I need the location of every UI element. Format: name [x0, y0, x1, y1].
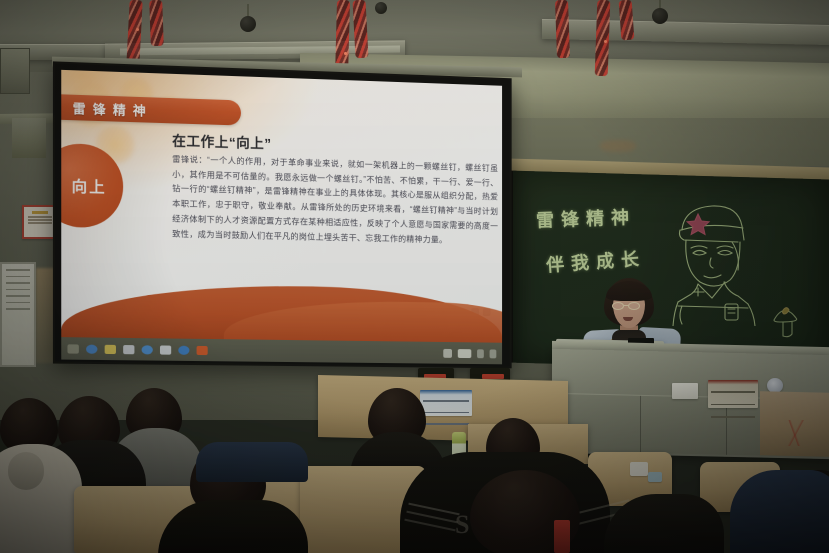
taskbar-tray[interactable] — [443, 348, 496, 357]
podium-service-sticker — [708, 380, 758, 408]
certificate-line — [28, 222, 52, 224]
store-icon[interactable] — [160, 345, 171, 354]
student-body-navy-jacket — [730, 470, 829, 553]
app-icon[interactable] — [197, 345, 208, 354]
notice-line — [6, 302, 30, 304]
red-tinsel-garland-4 — [595, 0, 611, 76]
slide-heading: 在工作上“向上” — [172, 129, 271, 152]
chair-sticker-2 — [648, 472, 662, 482]
podium-asset-tag-sticker — [672, 383, 698, 399]
explorer-icon[interactable] — [123, 345, 134, 354]
wall-utility-box — [0, 48, 30, 94]
notice-line — [6, 282, 30, 284]
wall-above-blackboard — [508, 118, 829, 166]
notice-line — [6, 289, 30, 291]
ceiling-speaker-mid — [375, 2, 387, 14]
ceiling-speaker-right — [652, 8, 668, 24]
folder-icon[interactable] — [105, 344, 116, 353]
red-tinsel-garland-3 — [555, 0, 570, 58]
wall-utility-box-lower — [12, 118, 46, 158]
wall-smudge — [600, 140, 636, 152]
slide-badge-label: 向上 — [61, 174, 106, 197]
desk-service-label — [420, 390, 472, 416]
notice-line — [6, 269, 30, 271]
notice-line — [6, 295, 30, 297]
glasses-lens-right-icon — [628, 302, 640, 310]
hoodie-hood — [8, 452, 44, 490]
mushroom-doodle — [770, 300, 816, 340]
classroom-scene: 雷锋精神 伴我成长 — [0, 0, 829, 553]
ceiling-speaker-left — [240, 16, 256, 32]
tinsel-sparkle-1 — [136, 28, 139, 31]
certificate-line — [28, 216, 52, 218]
presentation-slide: 雷锋精神 向上 在工作上“向上” 雷锋说：“一个人的作用，对于革命事业来说，就如… — [61, 70, 502, 343]
notice-line — [6, 276, 30, 278]
glasses-bridge — [624, 305, 629, 306]
blackboard-text-line1: 雷锋精神 — [536, 203, 637, 232]
certificate-line — [28, 219, 52, 221]
wall-red-marking — [778, 420, 812, 446]
jacket-logo-text: S — [455, 510, 469, 540]
whiteboard-notice — [0, 262, 36, 367]
mail-icon[interactable] — [178, 345, 189, 354]
notice-line — [6, 308, 30, 310]
volume-icon[interactable] — [490, 349, 497, 358]
battery-icon[interactable] — [443, 348, 452, 357]
red-tinsel-garland-1b — [149, 0, 164, 46]
certificate-seal — [32, 211, 48, 214]
keyboard-icon[interactable] — [458, 349, 472, 358]
start-icon[interactable] — [67, 344, 78, 353]
windows-taskbar[interactable] — [61, 337, 502, 364]
tinsel-sparkle-2 — [344, 52, 347, 55]
navy-bag — [196, 442, 308, 482]
edge-icon[interactable] — [142, 345, 153, 354]
glasses-lens-left-icon — [612, 302, 624, 310]
red-tinsel-garland-4b — [619, 0, 635, 40]
search-icon[interactable] — [86, 344, 97, 353]
tinsel-sparkle-3 — [604, 40, 607, 43]
projection-screen: 雷锋精神 向上 在工作上“向上” 雷锋说：“一个人的作用，对于革命事业来说，就如… — [53, 61, 512, 368]
chair-sticker — [630, 462, 648, 476]
slide-body-text: 雷锋说：“一个人的作用，对于革命事业来说，就如一架机器上的一颗螺丝钉，螺丝钉虽小… — [172, 153, 498, 249]
network-icon[interactable] — [477, 349, 484, 358]
slide-banner-title: 雷锋精神 — [61, 97, 153, 120]
red-beverage-can — [554, 520, 570, 553]
